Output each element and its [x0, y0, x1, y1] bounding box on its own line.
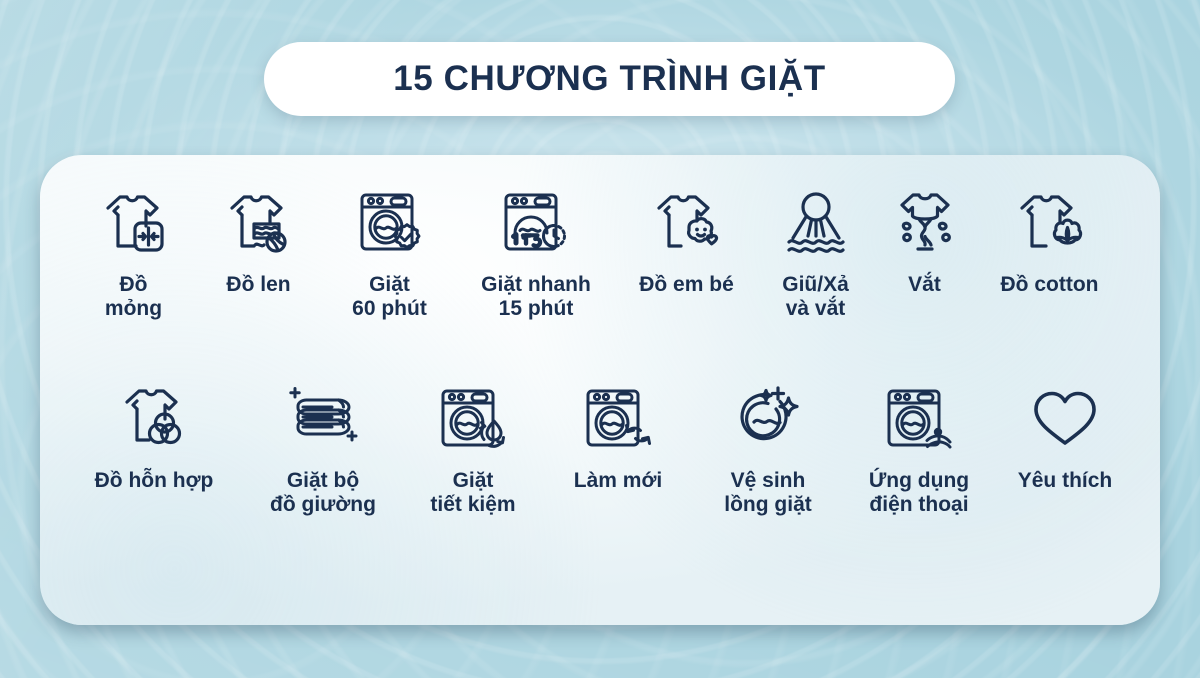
tshirt-delicate-icon — [100, 181, 168, 265]
spin-wring-icon — [890, 181, 960, 265]
program-item-favorite[interactable]: Yêu thích — [995, 377, 1135, 493]
program-item-rinse-spin[interactable]: Giũ/Xả và vắt — [756, 181, 876, 322]
washer-eco-drop-icon — [436, 377, 510, 461]
program-label: Đồ cotton — [1001, 273, 1099, 297]
washer-check-icon — [355, 181, 425, 265]
washer-smart-app-icon — [882, 377, 956, 461]
program-item-spin[interactable]: Vắt — [876, 181, 974, 297]
tshirt-wool-icon — [224, 181, 294, 265]
programs-row-2: Đồ hỗn hợp — [60, 377, 1140, 573]
program-item-bedding[interactable]: Giặt bộ đồ giường — [243, 377, 403, 518]
program-item-mixed[interactable]: Đồ hỗn hợp — [65, 377, 243, 493]
program-label: Làm mới — [574, 469, 662, 493]
page-title: 15 CHƯƠNG TRÌNH GIẶT — [393, 59, 826, 99]
program-label: Giặt 60 phút — [352, 273, 427, 322]
program-label: Đồ len — [226, 273, 290, 297]
title-pill: 15 CHƯƠNG TRÌNH GIẶT — [264, 42, 955, 116]
program-item-wash-60[interactable]: Giặt 60 phút — [325, 181, 455, 322]
washer-15-clock-icon — [499, 181, 573, 265]
tshirt-cotton-icon — [1014, 181, 1086, 265]
bedding-stack-icon — [286, 377, 360, 461]
program-label: Giặt tiết kiệm — [430, 469, 515, 518]
program-label: Đồ mỏng — [105, 273, 162, 322]
programs-card: Đồ mỏng — [40, 155, 1160, 625]
program-label: Đồ em bé — [639, 273, 734, 297]
program-label: Giặt bộ đồ giường — [270, 469, 376, 518]
promo-poster: 15 CHƯƠNG TRÌNH GIẶT — [0, 0, 1200, 678]
program-item-delicate[interactable]: Đồ mỏng — [75, 181, 193, 322]
program-label: Vắt — [908, 273, 941, 297]
program-item-drum-clean[interactable]: Vệ sinh lồng giặt — [693, 377, 843, 518]
tshirt-mixed-icon — [119, 377, 189, 461]
program-item-refresh[interactable]: Làm mới — [543, 377, 693, 493]
programs-grid: Đồ mỏng — [40, 155, 1160, 625]
program-label: Giũ/Xả và vắt — [782, 273, 849, 322]
program-label: Đồ hỗn hợp — [95, 469, 214, 493]
programs-row-1: Đồ mỏng — [60, 181, 1140, 377]
program-item-baby[interactable]: Đồ em bé — [618, 181, 756, 297]
program-item-smart-app[interactable]: Ứng dụng điện thoại — [843, 377, 995, 518]
drum-clean-sparkle-icon — [732, 377, 804, 461]
program-label: Giặt nhanh 15 phút — [481, 273, 591, 322]
heart-favorite-icon — [1031, 377, 1099, 461]
program-label: Vệ sinh lồng giặt — [724, 469, 812, 518]
program-item-eco[interactable]: Giặt tiết kiệm — [403, 377, 543, 518]
program-label: Yêu thích — [1018, 469, 1113, 493]
tshirt-baby-icon — [651, 181, 723, 265]
program-item-quick-15[interactable]: Giặt nhanh 15 phút — [455, 181, 618, 322]
program-item-wool[interactable]: Đồ len — [193, 181, 325, 297]
program-label: Ứng dụng điện thoại — [869, 469, 969, 518]
rinse-spin-icon — [784, 181, 848, 265]
washer-refresh-icon — [581, 377, 655, 461]
program-item-cotton[interactable]: Đồ cotton — [974, 181, 1126, 297]
